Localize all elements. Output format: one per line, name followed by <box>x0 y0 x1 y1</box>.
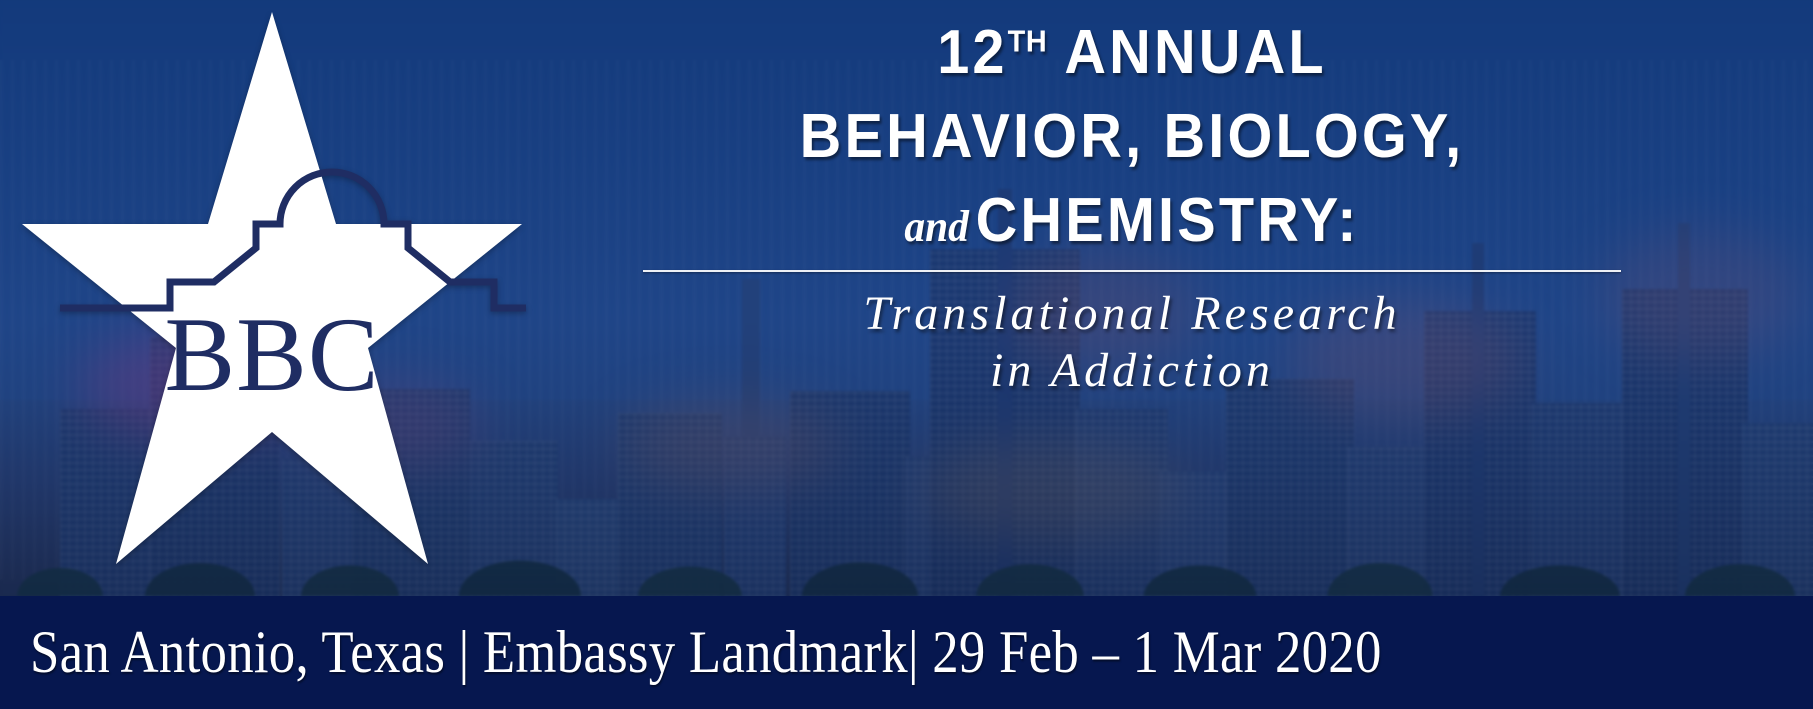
title-line-annual: 12TH ANNUAL <box>635 22 1628 84</box>
chemistry-label: CHEMISTRY: <box>976 186 1360 255</box>
title-line-chemistry: andCHEMISTRY: <box>635 190 1628 252</box>
subtitle-block: Translational Research in Addiction <box>598 286 1666 399</box>
ordinal-number: 12 <box>937 18 1007 87</box>
footer-bar: San Antonio, Texas | Embassy Landmark| 2… <box>0 596 1813 709</box>
title-block: 12TH ANNUAL BEHAVIOR, BIOLOGY, andCHEMIS… <box>598 22 1666 399</box>
subtitle-line-2: in Addiction <box>598 343 1666 400</box>
and-conjunction: and <box>904 201 975 251</box>
conference-banner: BBC 12TH ANNUAL BEHAVIOR, BIOLOGY, andCH… <box>0 0 1813 709</box>
ordinal-suffix: TH <box>1008 23 1048 58</box>
title-line-behavior-biology: BEHAVIOR, BIOLOGY, <box>635 106 1628 168</box>
footer-location-date-text: San Antonio, Texas | Embassy Landmark| 2… <box>30 618 1382 687</box>
star-shape <box>22 12 522 564</box>
annual-label: ANNUAL <box>1047 18 1327 87</box>
subtitle-line-1: Translational Research <box>598 286 1666 343</box>
bbc-star-logo: BBC <box>18 8 526 598</box>
title-divider-rule <box>643 270 1621 272</box>
bbc-monogram: BBC <box>164 296 379 413</box>
